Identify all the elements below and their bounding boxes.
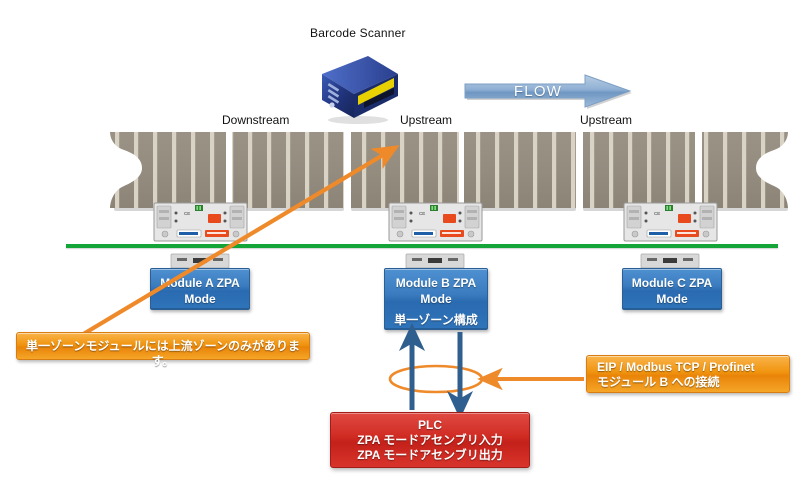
module-b-line3: 単一ゾーン構成 — [385, 312, 487, 328]
module-b-box[interactable]: Module B ZPA Mode 単一ゾーン構成 — [384, 268, 488, 330]
controller-module-c[interactable]: CE — [623, 202, 718, 242]
callout-single-zone[interactable]: 単一ゾーンモジュールには上流ゾーンのみがあります。 — [16, 332, 310, 360]
callout-left-text: 単一ゾーンモジュールには上流ゾーンのみがあります。 — [26, 339, 300, 368]
module-c-line1: Module C — [632, 276, 686, 290]
svg-text:CE: CE — [654, 211, 660, 216]
callout-right-line1: EIP / Modbus TCP / Profinet — [597, 360, 789, 375]
plc-box[interactable]: PLC ZPA モードアセンブリ入力 ZPA モードアセンブリ出力 — [330, 412, 530, 468]
plc-line1: PLC — [331, 418, 529, 433]
plc-line2: ZPA モードアセンブリ入力 — [331, 433, 529, 448]
flow-label: FLOW — [462, 82, 614, 102]
conveyor-belt — [108, 130, 793, 212]
svg-text:CE: CE — [184, 211, 190, 216]
controller-module-a[interactable]: CE — [153, 202, 248, 242]
plc-line3: ZPA モードアセンブリ出力 — [331, 448, 529, 463]
module-b-line1: Module B — [396, 276, 450, 290]
controller-module-b[interactable]: CE — [388, 202, 483, 242]
diagram-canvas: Barcode Scanner — [0, 0, 801, 501]
module-a-box[interactable]: Module A ZPA Mode — [150, 268, 250, 310]
orange-ellipse-highlight-icon — [390, 366, 482, 392]
barcode-scanner-icon — [310, 52, 402, 124]
upstream-label-c: Upstream — [580, 113, 632, 127]
upstream-label-b: Upstream — [400, 113, 452, 127]
barcode-scanner-label: Barcode Scanner — [310, 26, 406, 40]
module-a-line1: Module A — [160, 276, 213, 290]
callout-right-line2: モジュール B への接続 — [597, 375, 789, 390]
callout-network-connection[interactable]: EIP / Modbus TCP / Profinet モジュール B への接続 — [586, 355, 790, 393]
downstream-label: Downstream — [222, 113, 289, 127]
svg-text:CE: CE — [419, 211, 425, 216]
module-c-box[interactable]: Module C ZPA Mode — [622, 268, 722, 310]
